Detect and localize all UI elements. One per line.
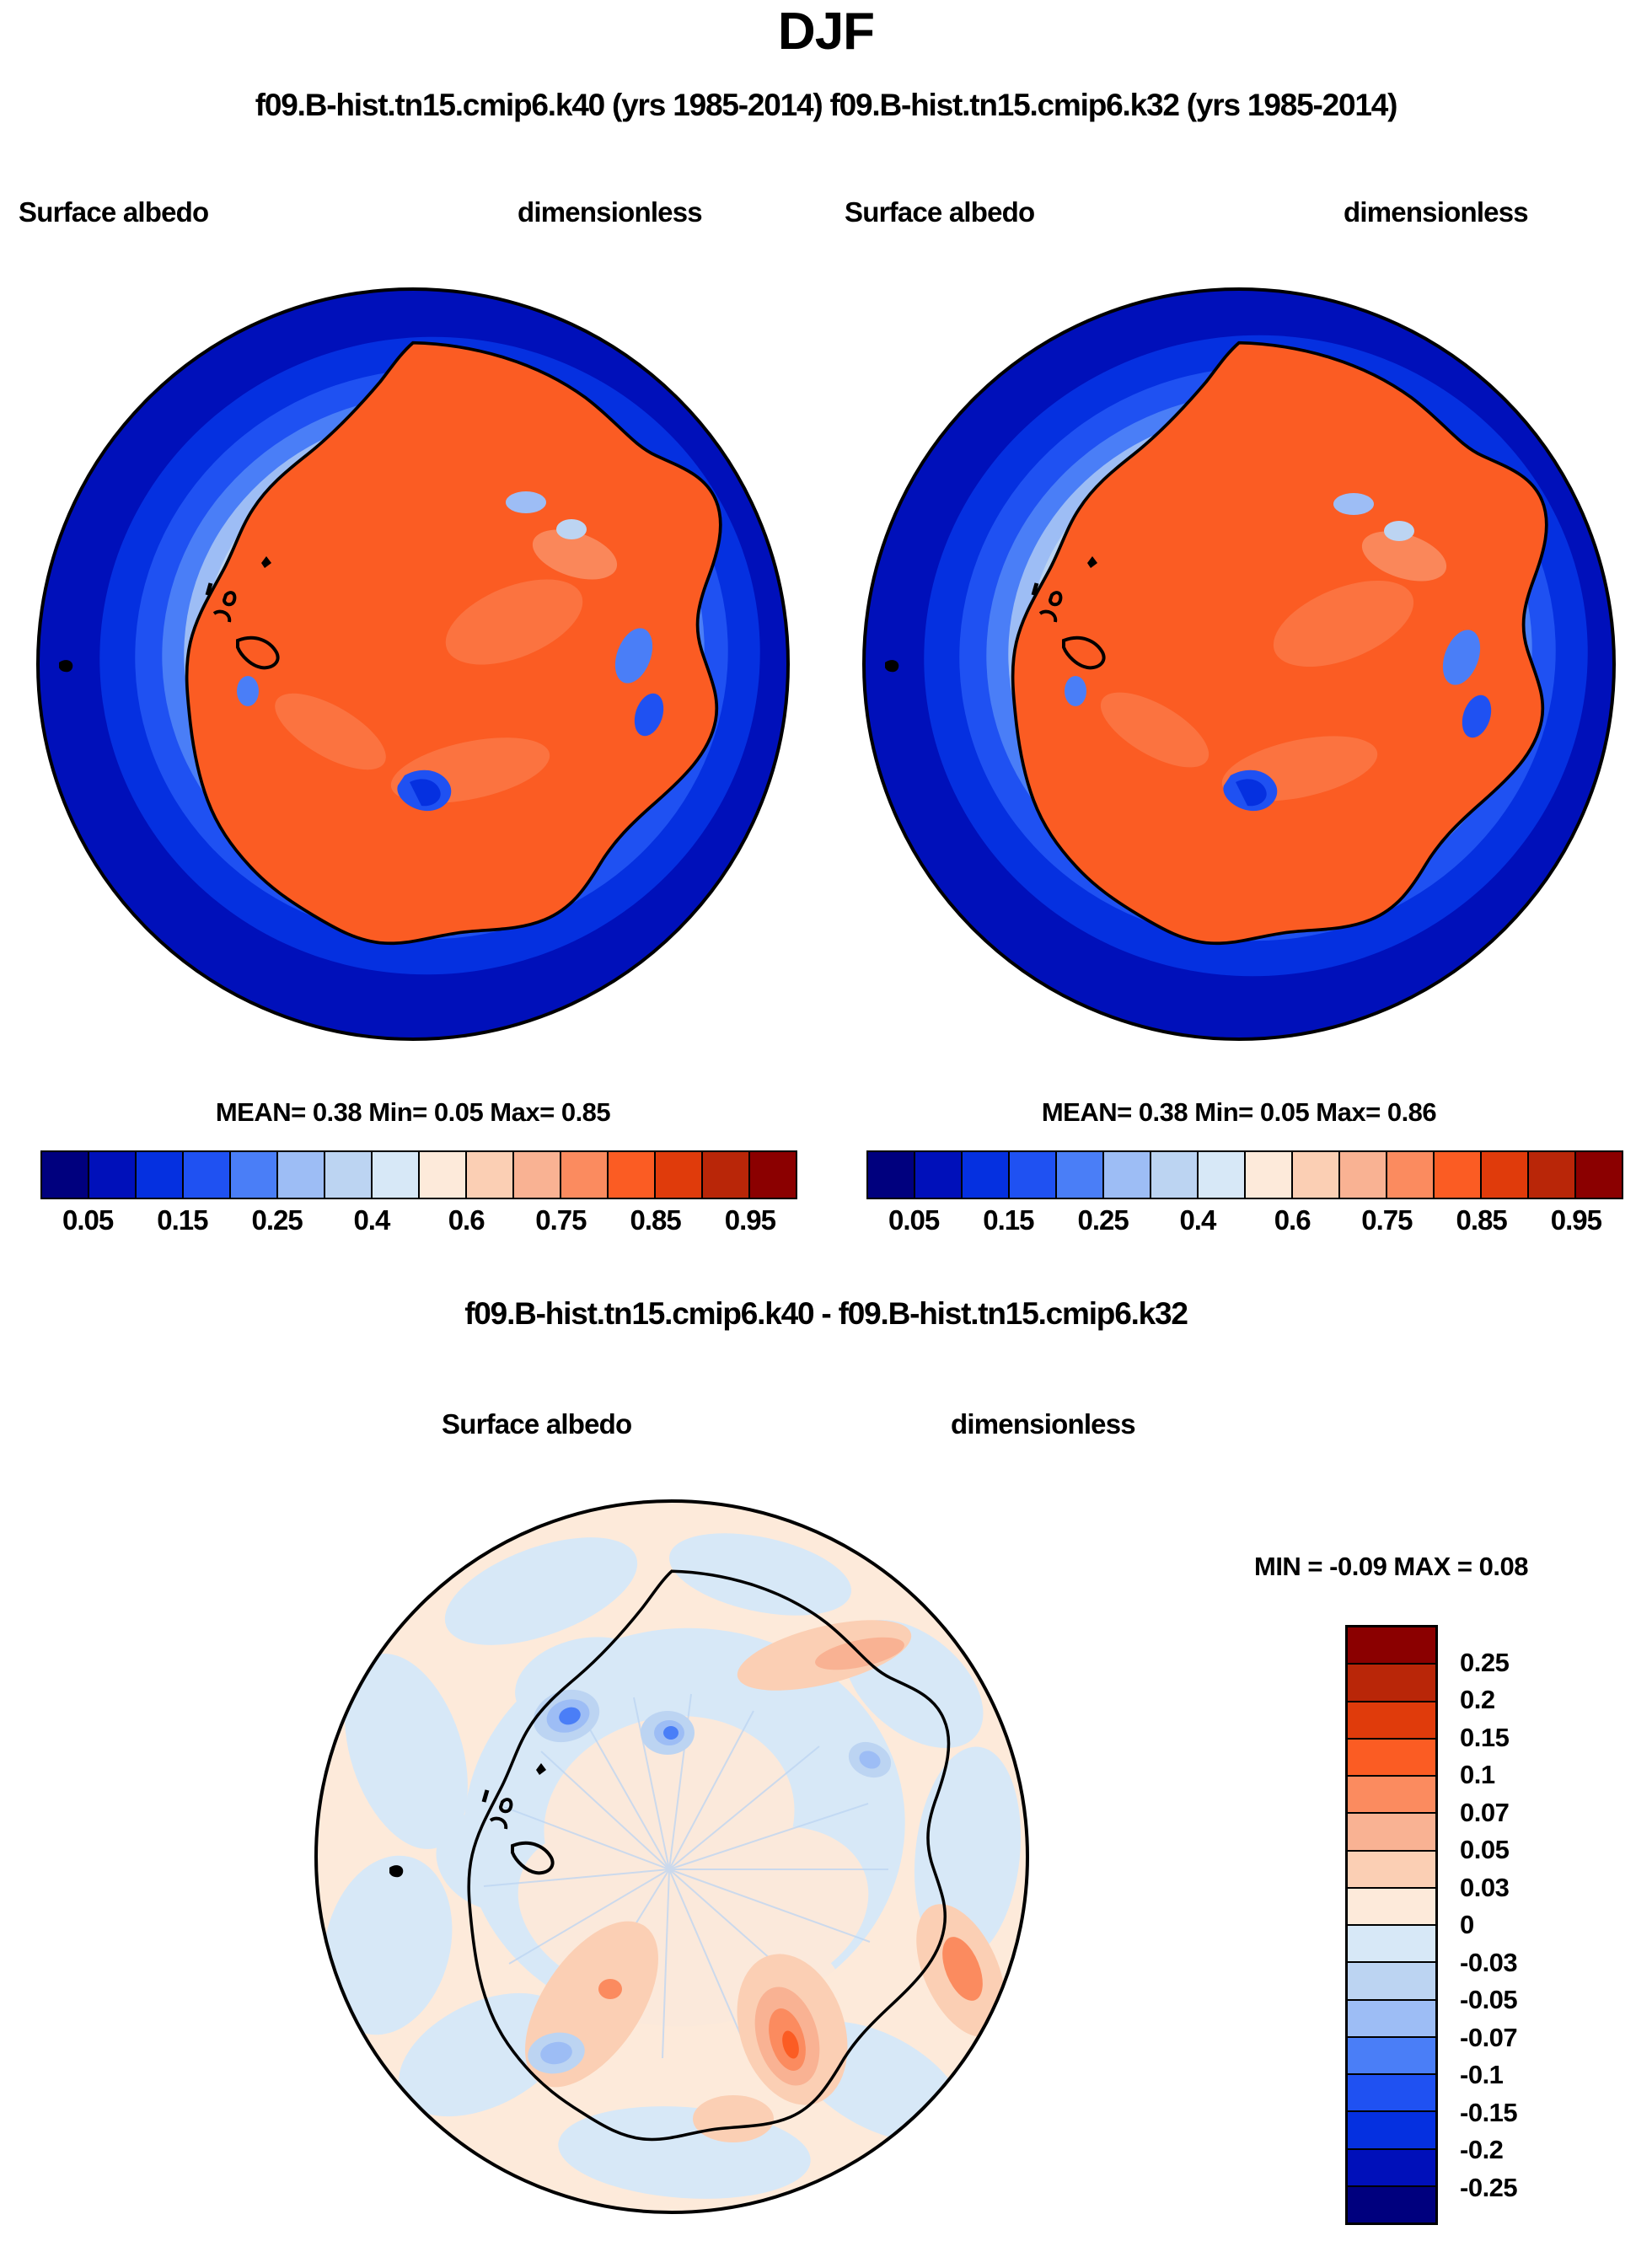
- colorbar-swatch: [420, 1152, 467, 1198]
- colorbar-tick-label: 0.15: [983, 1204, 1033, 1236]
- colorbar-swatch: [184, 1152, 231, 1198]
- figure-season-title: DJF: [0, 2, 1652, 62]
- left-variable-label: Surface albedo: [19, 196, 208, 228]
- colorbar-tick-label: 0.1: [1460, 1760, 1620, 1790]
- colorbar-tick-label: 0.95: [725, 1204, 775, 1236]
- colorbar-tick-label: 0.15: [1460, 1723, 1620, 1753]
- colorbar-tick-label: 0.25: [252, 1204, 303, 1236]
- figure-canvas: DJF f09.B-hist.tn15.cmip6.k40 (yrs 1985-…: [0, 0, 1652, 2268]
- colorbar-tick-label: -0.15: [1460, 2098, 1620, 2128]
- left-stats: MEAN= 0.38 Min= 0.05 Max= 0.85: [0, 1097, 826, 1128]
- right-map-contours: [864, 289, 1629, 1039]
- diff-variable-label: Surface albedo: [442, 1408, 631, 1440]
- right-colorbar[interactable]: 0.050.150.250.40.60.750.850.95: [866, 1150, 1623, 1247]
- colorbar-tick-label: -0.05: [1460, 1985, 1620, 2015]
- colorbar-swatch: [656, 1152, 703, 1198]
- colorbar-tick-label: 0.05: [888, 1204, 939, 1236]
- left-colorbar-ticks: 0.050.150.250.40.60.750.850.95: [40, 1199, 797, 1247]
- colorbar-swatch: [278, 1152, 325, 1198]
- colorbar-swatch: [1246, 1152, 1293, 1198]
- colorbar-swatch: [373, 1152, 420, 1198]
- colorbar-swatch: [963, 1152, 1010, 1198]
- left-map-contours: [38, 289, 802, 1039]
- colorbar-swatch: [561, 1152, 609, 1198]
- colorbar-tick-label: 0.05: [1460, 1835, 1620, 1865]
- colorbar-swatch: [1482, 1152, 1529, 1198]
- colorbar-tick-label: 0.2: [1460, 1685, 1620, 1715]
- colorbar-tick-label: 0.95: [1551, 1204, 1601, 1236]
- colorbar-swatch: [467, 1152, 514, 1198]
- diff-colorbar-ticks: 0.250.20.150.10.070.050.030-0.03-0.05-0.…: [1345, 1625, 1649, 2225]
- diff-polar-map[interactable]: [288, 1473, 1055, 2240]
- left-polar-map[interactable]: [8, 260, 818, 1069]
- left-colorbar-cells: [40, 1150, 797, 1199]
- colorbar-tick-label: 0.25: [1460, 1648, 1620, 1678]
- right-polar-map[interactable]: [834, 260, 1644, 1069]
- colorbar-tick-label: -0.1: [1460, 2060, 1620, 2090]
- colorbar-swatch: [1151, 1152, 1199, 1198]
- right-variable-label: Surface albedo: [845, 196, 1034, 228]
- left-colorbar[interactable]: 0.050.150.250.40.60.750.850.95: [40, 1150, 797, 1247]
- diff-map-contours: [305, 1501, 1031, 2212]
- colorbar-swatch: [1104, 1152, 1151, 1198]
- colorbar-swatch: [1529, 1152, 1576, 1198]
- colorbar-swatch: [1576, 1152, 1622, 1198]
- colorbar-swatch: [609, 1152, 656, 1198]
- colorbar-swatch: [1340, 1152, 1387, 1198]
- left-units-label: dimensionless: [518, 196, 702, 228]
- colorbar-tick-label: 0: [1460, 1910, 1620, 1940]
- colorbar-swatch: [1293, 1152, 1340, 1198]
- colorbar-tick-label: 0.07: [1460, 1798, 1620, 1828]
- colorbar-tick-label: -0.03: [1460, 1948, 1620, 1978]
- colorbar-tick-label: 0.15: [157, 1204, 207, 1236]
- difference-title: f09.B-hist.tn15.cmip6.k40 - f09.B-hist.t…: [0, 1296, 1652, 1332]
- colorbar-swatch: [514, 1152, 561, 1198]
- figure-case-header: f09.B-hist.tn15.cmip6.k40 (yrs 1985-2014…: [0, 88, 1652, 123]
- colorbar-swatch: [915, 1152, 963, 1198]
- colorbar-tick-label: 0.03: [1460, 1873, 1620, 1903]
- right-stats: MEAN= 0.38 Min= 0.05 Max= 0.86: [826, 1097, 1652, 1128]
- colorbar-tick-label: 0.75: [1361, 1204, 1412, 1236]
- colorbar-tick-label: 0.4: [1179, 1204, 1215, 1236]
- diff-colorbar[interactable]: 0.250.20.150.10.070.050.030-0.03-0.05-0.…: [1345, 1625, 1649, 2225]
- colorbar-tick-label: -0.25: [1460, 2173, 1620, 2203]
- colorbar-swatch: [89, 1152, 137, 1198]
- colorbar-swatch: [1387, 1152, 1435, 1198]
- colorbar-tick-label: 0.75: [535, 1204, 586, 1236]
- colorbar-swatch: [42, 1152, 89, 1198]
- colorbar-swatch: [325, 1152, 373, 1198]
- colorbar-swatch: [703, 1152, 750, 1198]
- colorbar-swatch: [231, 1152, 278, 1198]
- colorbar-swatch: [1435, 1152, 1482, 1198]
- colorbar-tick-label: 0.85: [630, 1204, 681, 1236]
- colorbar-swatch: [1199, 1152, 1246, 1198]
- colorbar-tick-label: 0.85: [1456, 1204, 1507, 1236]
- colorbar-tick-label: 0.6: [448, 1204, 485, 1236]
- colorbar-swatch: [868, 1152, 915, 1198]
- colorbar-swatch: [137, 1152, 184, 1198]
- right-colorbar-cells: [866, 1150, 1623, 1199]
- colorbar-tick-label: 0.05: [62, 1204, 113, 1236]
- right-units-label: dimensionless: [1344, 196, 1528, 228]
- diff-stats: MIN = -0.09 MAX = 0.08: [1254, 1552, 1528, 1582]
- diff-units-label: dimensionless: [951, 1408, 1135, 1440]
- colorbar-swatch: [750, 1152, 796, 1198]
- colorbar-tick-label: 0.6: [1274, 1204, 1311, 1236]
- colorbar-swatch: [1057, 1152, 1104, 1198]
- colorbar-tick-label: -0.2: [1460, 2135, 1620, 2165]
- colorbar-tick-label: -0.07: [1460, 2023, 1620, 2053]
- colorbar-tick-label: 0.4: [353, 1204, 389, 1236]
- colorbar-tick-label: 0.25: [1078, 1204, 1129, 1236]
- colorbar-swatch: [1010, 1152, 1057, 1198]
- right-colorbar-ticks: 0.050.150.250.40.60.750.850.95: [866, 1199, 1623, 1247]
